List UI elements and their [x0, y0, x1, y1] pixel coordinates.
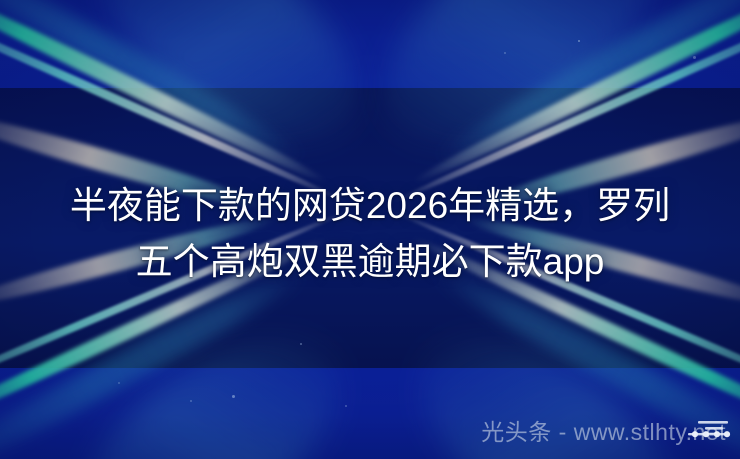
bars-dots-icon: [686, 419, 734, 441]
banner-title: 半夜能下款的网贷2026年精选，罗列 五个高炮双黑逾期必下款app: [0, 178, 740, 290]
banner-image: 半夜能下款的网贷2026年精选，罗列 五个高炮双黑逾期必下款app 光头条 - …: [0, 0, 740, 459]
